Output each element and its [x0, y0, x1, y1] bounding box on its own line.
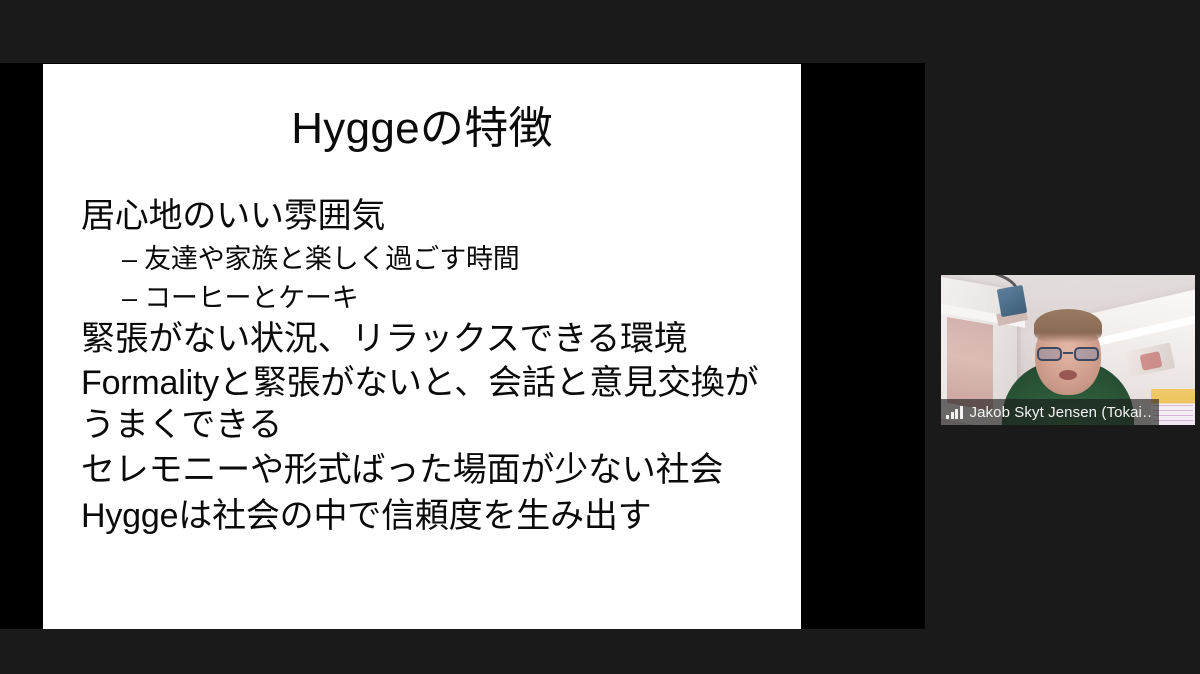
participant-name-label: Jakob Skyt Jensen (Tokai…: [970, 405, 1154, 420]
eyeglasses: [1037, 347, 1099, 362]
person-mouth: [1059, 370, 1077, 380]
bullet-text: コーヒーとケーキ: [144, 283, 358, 313]
participant-video-tile[interactable]: Jakob Skyt Jensen (Tokai…: [941, 275, 1195, 425]
bullet-item: 緊張がない状況、リラックスできる環境: [81, 317, 771, 361]
bullet-item: セレモニーや形式ばった場面が少ない社会: [81, 448, 771, 492]
bullet-item: Hyggeは社会の中で信頼度を生み出す: [81, 494, 771, 538]
bullet-item: –友達や家族と楽しく過ごす時間: [81, 240, 771, 278]
tablet-device: [997, 285, 1027, 317]
bullet-text: 友達や家族と楽しく過ごす時間: [144, 244, 519, 274]
bullet-item: 居心地のいい雰囲気: [81, 194, 771, 238]
screen-share-view: Hyggeの特徴 居心地のいい雰囲気 –友達や家族と楽しく過ごす時間 –コーヒー…: [0, 0, 1200, 674]
participant-name-strip: Jakob Skyt Jensen (Tokai…: [941, 399, 1159, 425]
bullet-dash-marker: –: [122, 240, 144, 278]
person-hair: [1034, 309, 1102, 343]
eyeglass-lens-left: [1037, 347, 1062, 361]
left-shelf-contents: [947, 317, 993, 411]
bullet-item: –コーヒーとケーキ: [81, 279, 771, 317]
bullet-item: Formalityと緊張がないと、会話と意見交換がうまくできる: [81, 363, 771, 446]
eyeglass-bridge: [1063, 352, 1073, 354]
slide-body: 居心地のいい雰囲気 –友達や家族と楽しく過ごす時間 –コーヒーとケーキ 緊張がな…: [81, 194, 771, 540]
presentation-slide: Hyggeの特徴 居心地のいい雰囲気 –友達や家族と楽しく過ごす時間 –コーヒー…: [43, 64, 801, 629]
wall-calendar-grid: [1153, 405, 1193, 421]
slide-title: Hyggeの特徴: [43, 104, 801, 155]
bullet-dash-marker: –: [122, 279, 144, 317]
signal-bars-icon: [946, 406, 963, 419]
eyeglass-lens-right: [1074, 347, 1099, 361]
